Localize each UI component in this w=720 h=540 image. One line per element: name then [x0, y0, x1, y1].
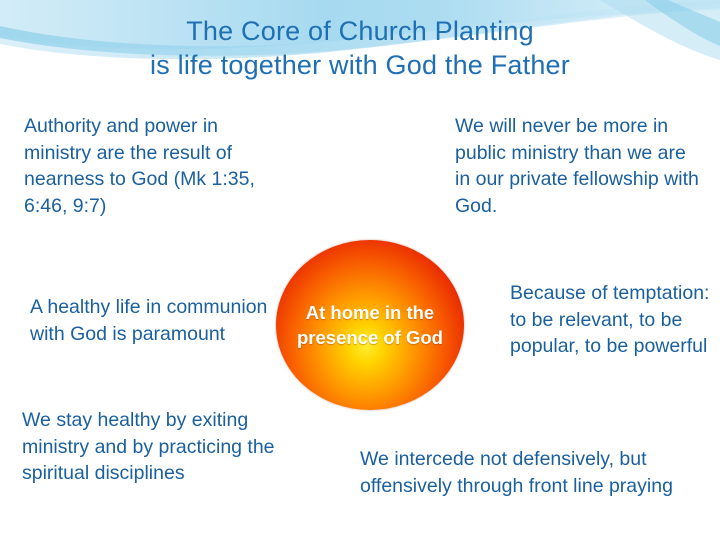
text-block-intercede: We intercede not defensively, but offens… — [360, 446, 710, 499]
text-block-stay-healthy: We stay healthy by exiting ministry and … — [22, 407, 307, 487]
text-block-never-public: We will never be more in public ministry… — [455, 113, 705, 219]
text-block-authority: Authority and power in ministry are the … — [24, 113, 274, 219]
title-line-2: is life together with God the Father — [0, 48, 720, 82]
title-line-1: The Core of Church Planting — [0, 14, 720, 48]
text-block-because-temptation: Because of temptation: to be relevant, t… — [510, 280, 710, 360]
center-circle-shape: At home in the presence of God — [276, 240, 464, 410]
slide: The Core of Church Planting is life toge… — [0, 0, 720, 540]
center-circle-label: At home in the presence of God — [276, 300, 464, 350]
slide-title: The Core of Church Planting is life toge… — [0, 14, 720, 82]
text-block-healthy-life: A healthy life in communion with God is … — [30, 294, 275, 347]
